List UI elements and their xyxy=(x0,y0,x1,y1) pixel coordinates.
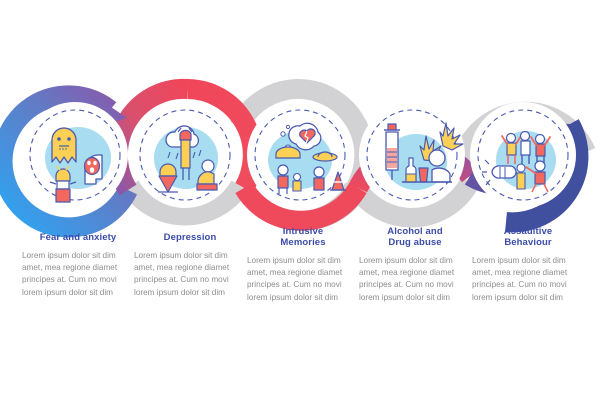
step-title-4: Alcohol and Drug abuse xyxy=(387,226,442,248)
infographic-root: Fear and anxiety Lorem ipsum dolor sit d… xyxy=(0,0,600,400)
step-description-3: Lorem ipsum dolor sit dim amet, mea regi… xyxy=(247,255,359,304)
step-description-2: Lorem ipsum dolor sit dim amet, mea regi… xyxy=(134,250,246,299)
steps-text-layer: Fear and anxiety Lorem ipsum dolor sit d… xyxy=(0,0,600,400)
step-title-2: Depression xyxy=(164,232,217,243)
step-description-5: Lorem ipsum dolor sit dim amet, mea regi… xyxy=(472,255,584,304)
step-title-1: Fear and anxiety xyxy=(40,232,117,243)
step-description-1: Lorem ipsum dolor sit dim amet, mea regi… xyxy=(22,250,134,299)
step-text-alcohol-and-drug-abuse[interactable]: Alcohol and Drug abuse Lorem ipsum dolor… xyxy=(355,226,475,304)
step-text-depression[interactable]: Depression Lorem ipsum dolor sit dim ame… xyxy=(130,232,250,299)
step-text-fear-and-anxiety[interactable]: Fear and anxiety Lorem ipsum dolor sit d… xyxy=(18,232,138,299)
step-title-3: Intrusive Memories xyxy=(280,226,325,248)
step-title-5: Assaultive Behaviour xyxy=(504,226,553,248)
step-text-assaultive-behaviour[interactable]: Assaultive Behaviour Lorem ipsum dolor s… xyxy=(468,226,588,304)
step-text-intrusive-memories[interactable]: Intrusive Memories Lorem ipsum dolor sit… xyxy=(243,226,363,304)
step-description-4: Lorem ipsum dolor sit dim amet, mea regi… xyxy=(359,255,471,304)
